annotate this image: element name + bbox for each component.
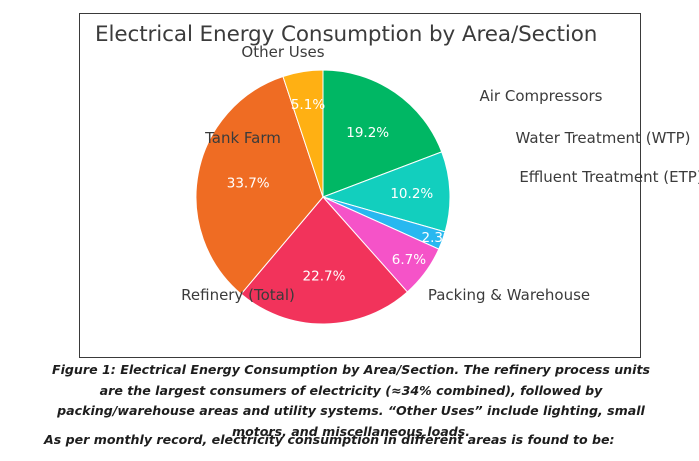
pie-slice-percent-label: 6.7% (392, 252, 426, 268)
pie-slice-percent-label: 19.2% (346, 125, 389, 141)
pie-slice-percent-label: 2.3% (422, 230, 456, 246)
pie-slice-percent-label: 5.1% (291, 97, 325, 113)
pie-category-label: Other Uses (241, 43, 324, 61)
pie-category-label: Air Compressors (479, 87, 602, 105)
pie-slice-percent-label: 33.7% (227, 176, 270, 192)
figure-panel: Electrical Energy Consumption by Area/Se… (79, 13, 641, 358)
pie-category-label: Effluent Treatment (ETP) (519, 168, 699, 186)
pie-category-label: Tank Farm (204, 129, 281, 147)
pie-chart: 19.2%10.2%2.3%6.7%22.7%33.7%5.1% Other U… (80, 14, 642, 359)
pie-category-label: Water Treatment (WTP) (516, 129, 691, 147)
pie-slice-percent-label: 10.2% (390, 186, 433, 202)
pie-category-label: Refinery (Total) (181, 286, 295, 304)
pie-slice-percent-label: 22.7% (303, 269, 346, 285)
followup-sentence: As per monthly record, electricity consu… (44, 430, 658, 450)
pie-category-label: Packing & Warehouse (428, 286, 590, 304)
